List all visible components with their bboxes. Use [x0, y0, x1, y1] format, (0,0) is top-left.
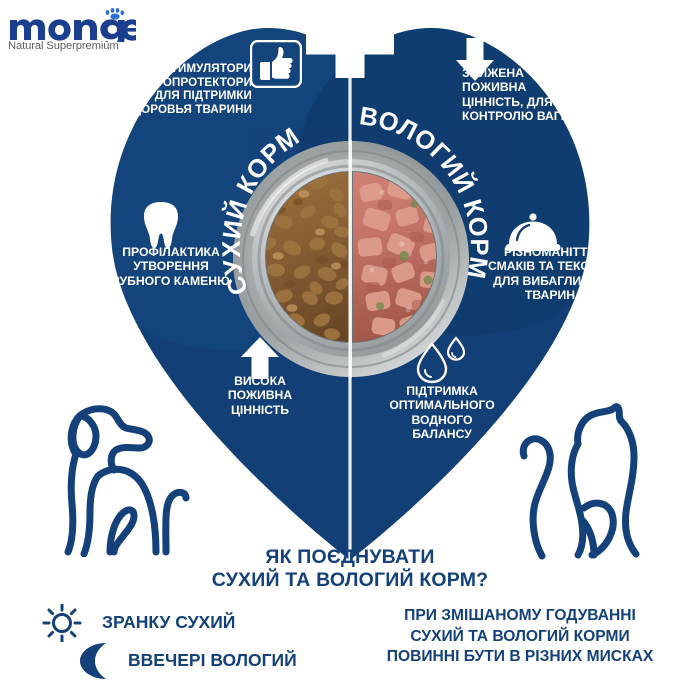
footer-note: ПРИ ЗМІШАНОМУ ГОДУВАННІ СУХИЙ ТА ВОЛОГИЙ…	[344, 606, 696, 668]
thumbs-up-icon	[250, 40, 302, 88]
infographic-root: СУХИЙ КОРМ ВОЛОГИЙ КОРМ ІМУНОСТИМУЛЯТОРИ…	[0, 0, 700, 700]
schedule-label-evening: ВВЕЧЕРІ ВОЛОГИЙ	[128, 650, 297, 671]
medical-cross-icon	[306, 0, 394, 78]
water-drops-icon	[412, 336, 470, 386]
tooth-icon	[140, 200, 182, 250]
sun-icon	[34, 604, 90, 642]
schedule-label-morning: ЗРАНКУ СУХИЙ	[102, 612, 235, 633]
feeding-schedule: ЗРАНКУ СУХИЙ ВВЕЧЕРІ ВОЛОГИЙ	[10, 604, 340, 680]
benefit-left-2: ПРОФІЛАКТИКА УТВОРЕННЯ ЗУБНОГО КАМЕНЮ	[96, 245, 246, 288]
benefit-left-3: ВИСОКА ПОЖИВНА ЦІННІСТЬ	[200, 374, 320, 417]
cat-outline-icon	[498, 392, 658, 560]
brand-logo[interactable]: Natural Superpremium	[8, 6, 136, 52]
benefit-right-1: ЗНИЖЕНА ПОЖИВНА ЦІННІСТЬ, ДЛЯ КОНТРОЛЮ В…	[462, 66, 652, 124]
footer-question: ЯК ПОЄДНУВАТИ СУХИЙ ТА ВОЛОГИЙ КОРМ?	[170, 546, 530, 592]
monge-wordmark	[8, 6, 136, 42]
benefit-right-3: ПІДТРИМКА ОПТИМАЛЬНОГО ВОДНОГО БАЛАНСУ	[372, 384, 512, 442]
benefit-left-1: ІМУНОСТИМУЛЯТОРИ ТА ГЕПАТОПРОТЕКТОРИ ДЛЯ…	[72, 62, 252, 117]
schedule-row-evening: ВВЕЧЕРІ ВОЛОГИЙ	[10, 642, 340, 680]
dog-outline-icon	[48, 392, 198, 557]
benefit-right-2: РІЗНОМАНІТТЯ СМАКІВ ТА ТЕКСТУР ДЛЯ ВИБАГ…	[452, 245, 648, 303]
brand-tagline: Natural Superpremium	[8, 40, 136, 52]
schedule-row-morning: ЗРАНКУ СУХИЙ	[10, 604, 340, 642]
moon-icon	[66, 640, 120, 682]
